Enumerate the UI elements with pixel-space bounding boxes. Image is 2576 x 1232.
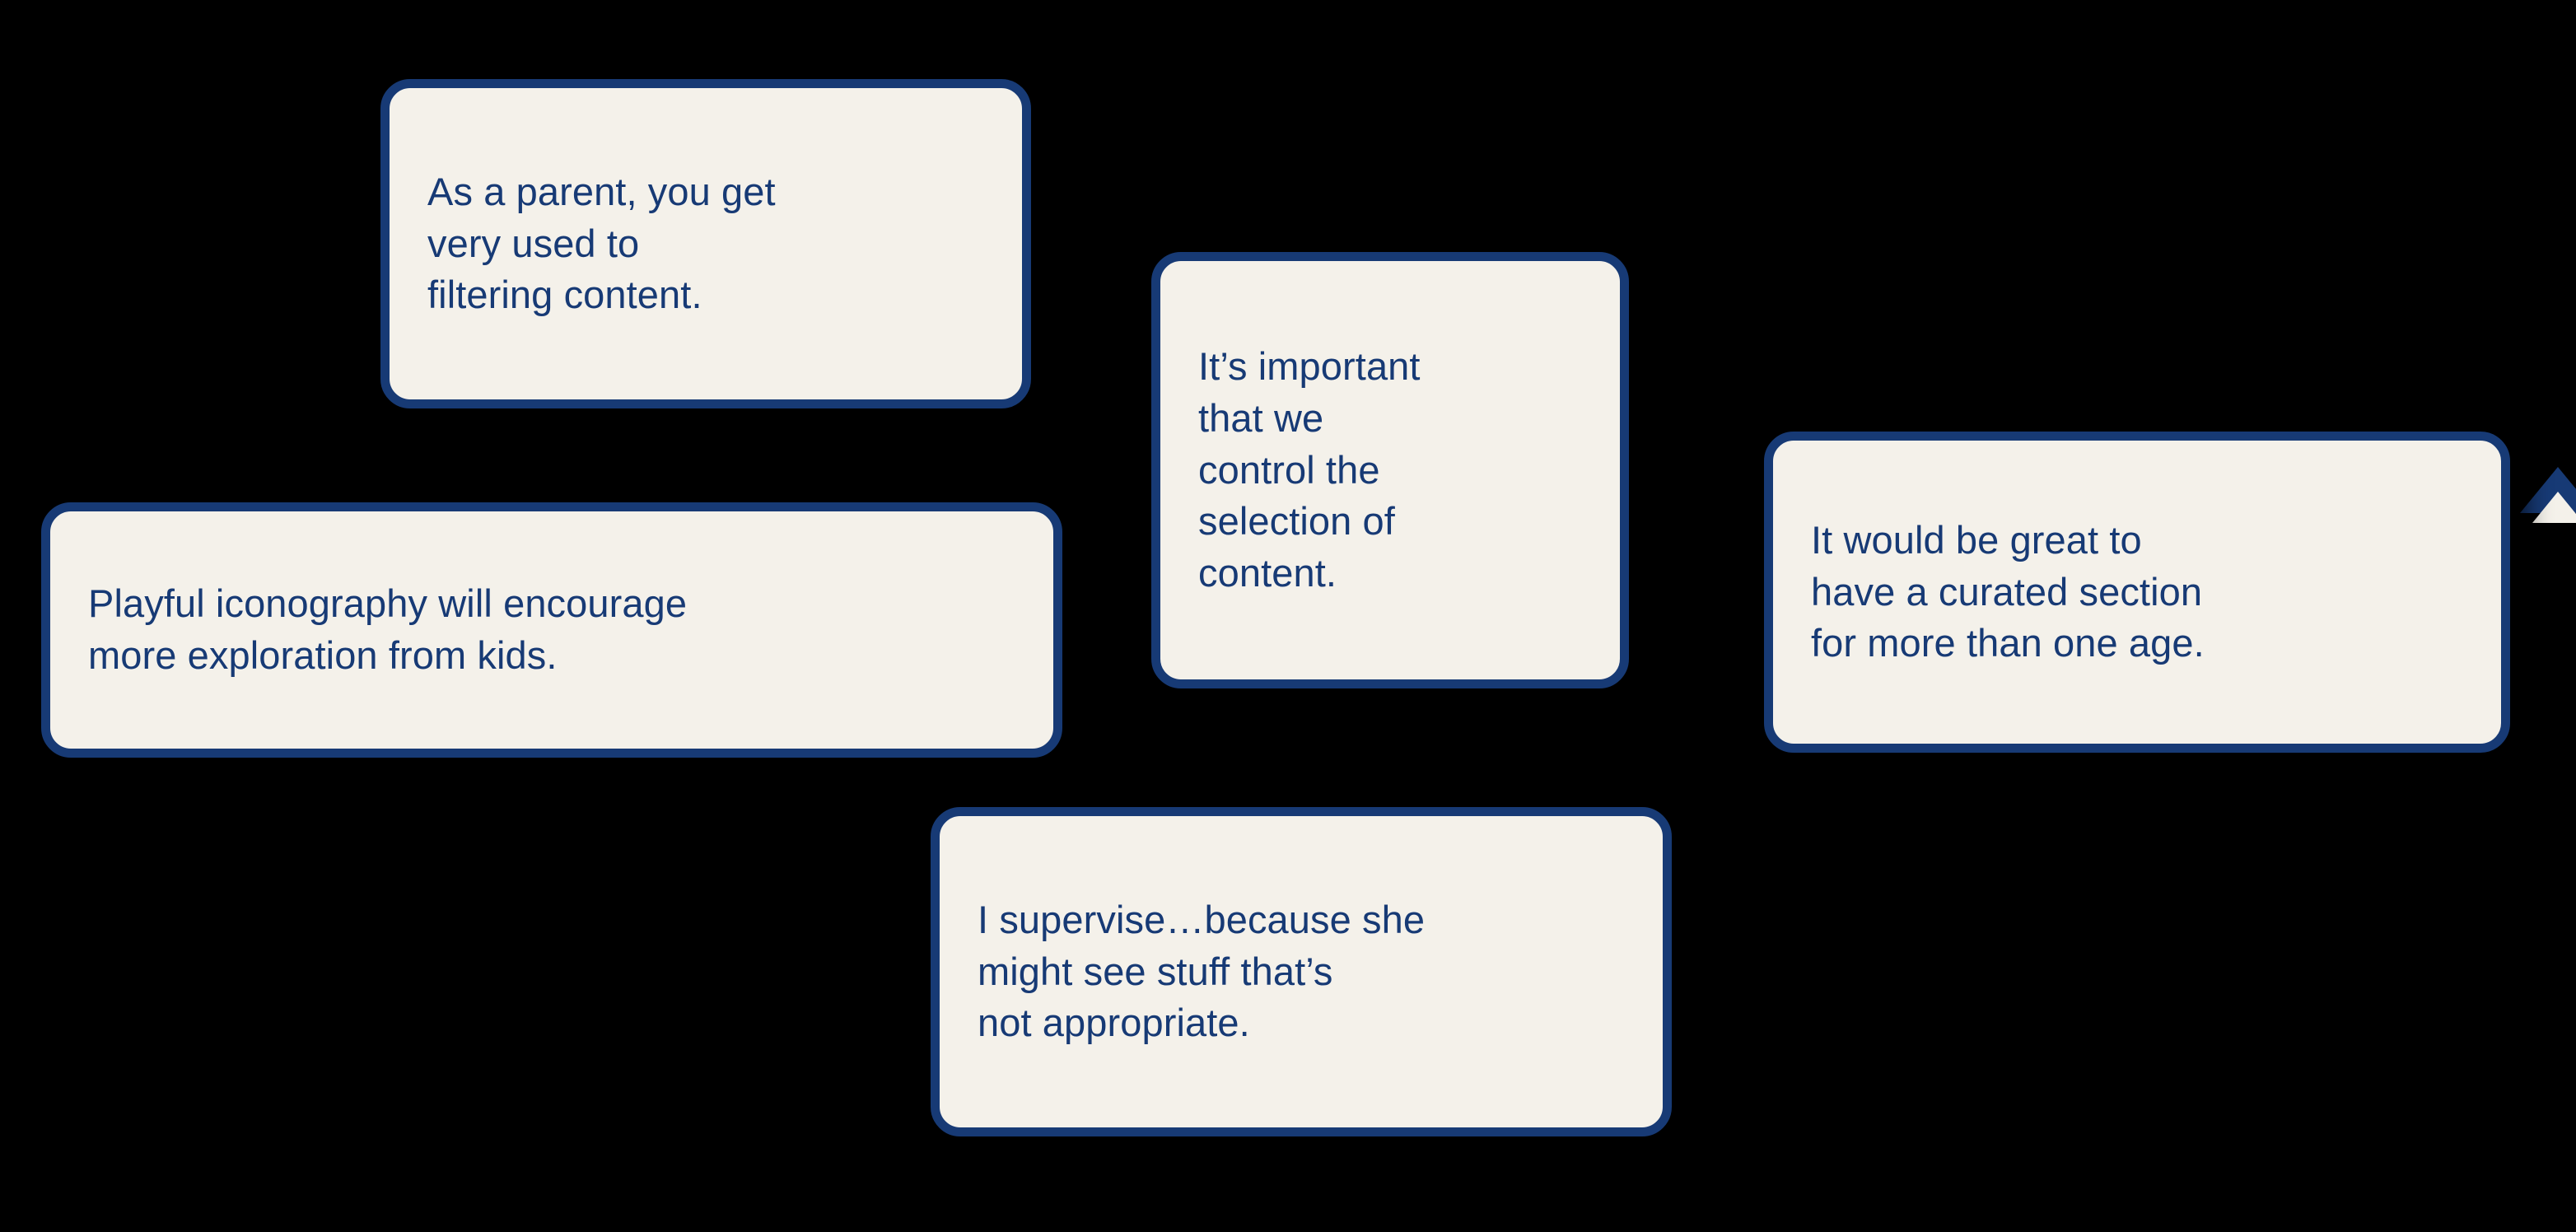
quote-bubbles-canvas: As a parent, you get very used to filter… bbox=[0, 0, 2576, 1232]
speech-bubble-parent-filtering: As a parent, you get very used to filter… bbox=[380, 79, 1031, 408]
speech-bubble-text: I supervise…because she might see stuff … bbox=[978, 894, 1625, 1050]
speech-bubble-curated-section: It would be great to have a curated sect… bbox=[1764, 432, 2510, 753]
speech-bubble-content-control: It’s important that we control the selec… bbox=[1151, 252, 1629, 688]
speech-bubble-supervise: I supervise…because she might see stuff … bbox=[931, 807, 1672, 1136]
speech-bubble-text: As a parent, you get very used to filter… bbox=[427, 166, 984, 322]
speech-bubble-text: Playful iconography will encourage more … bbox=[88, 578, 1015, 682]
speech-bubble-text: It would be great to have a curated sect… bbox=[1811, 515, 2463, 670]
speech-bubble-playful-iconography: Playful iconography will encourage more … bbox=[41, 502, 1062, 758]
speech-bubble-text: It’s important that we control the selec… bbox=[1198, 341, 1582, 600]
tail-fill-shape bbox=[2532, 492, 2576, 523]
